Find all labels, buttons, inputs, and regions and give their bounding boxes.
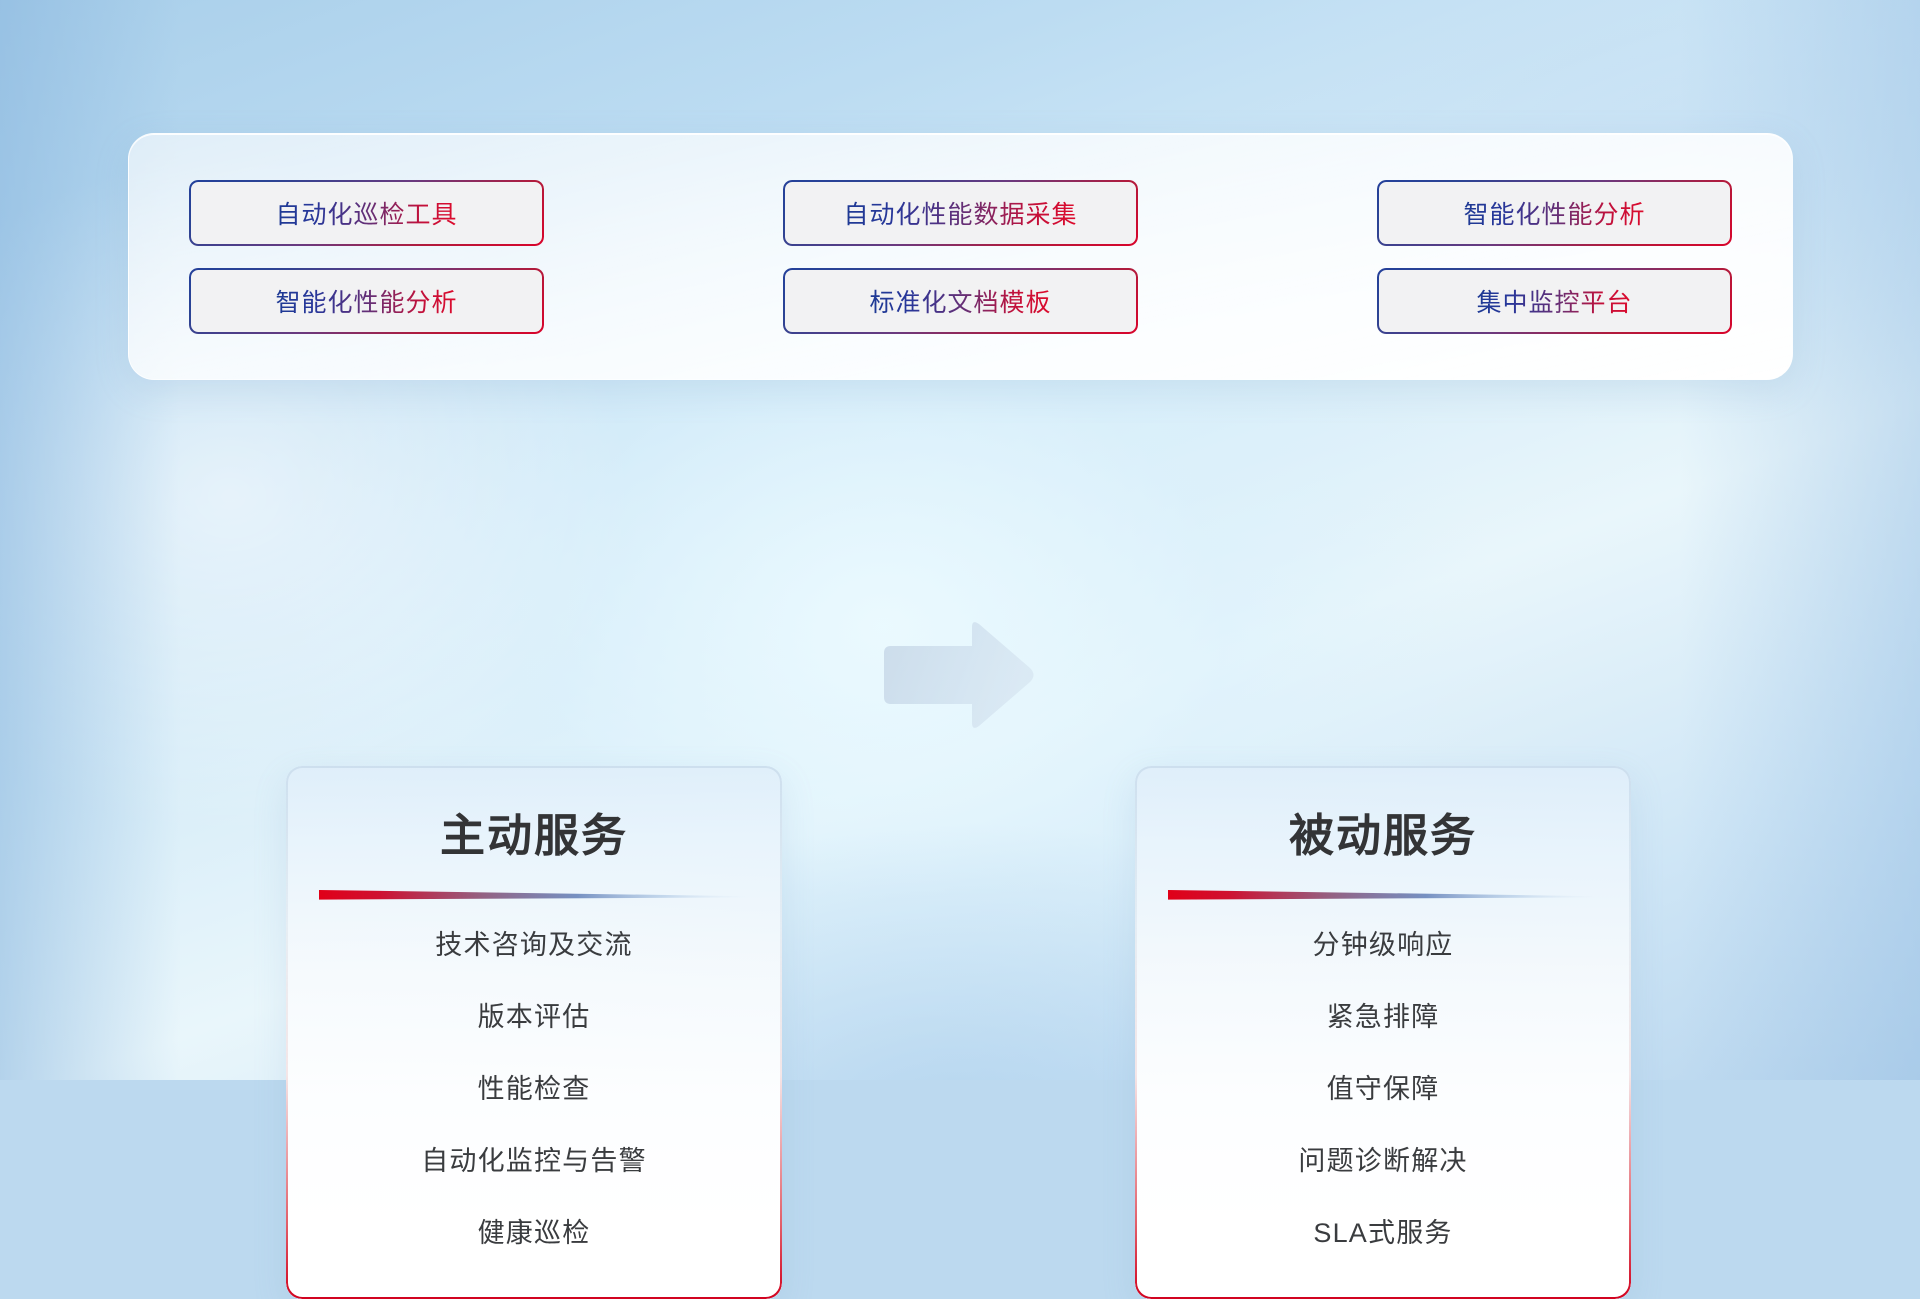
capability-chip-row-1: 自动化巡检工具 自动化性能数据采集 智能化性能分析 xyxy=(189,180,1732,246)
capability-chip-panel: 自动化巡检工具 自动化性能数据采集 智能化性能分析 智能化性能分析 标准化文档模… xyxy=(128,133,1793,380)
capability-chip-intelligent-perf-analysis-2[interactable]: 智能化性能分析 xyxy=(189,268,544,334)
capability-chip-label: 自动化性能数据采集 xyxy=(843,195,1077,231)
capability-chip-auto-inspection-tool[interactable]: 自动化巡检工具 xyxy=(189,180,544,246)
capability-chip-label: 自动化巡检工具 xyxy=(275,195,457,231)
service-card-item: 版本评估 xyxy=(286,1004,782,1031)
service-card-item: 性能检查 xyxy=(286,1076,782,1103)
capability-chip-standard-doc-template[interactable]: 标准化文档模板 xyxy=(783,268,1138,334)
capability-chip-row-2: 智能化性能分析 标准化文档模板 集中监控平台 xyxy=(189,268,1732,334)
capability-chip-label: 智能化性能分析 xyxy=(275,283,457,319)
title-divider-accent xyxy=(319,888,749,902)
service-card-item: SLA式服务 xyxy=(1135,1220,1631,1247)
service-card-item: 自动化监控与告警 xyxy=(286,1148,782,1175)
service-card-passive[interactable]: 被动服务 分钟级响应 紧急排障 值守保障 xyxy=(1135,766,1631,1299)
service-card-item-list: 技术咨询及交流 版本评估 性能检查 自动化监控与告警 健康巡检 xyxy=(286,932,782,1247)
capability-chip-label: 智能化性能分析 xyxy=(1463,195,1645,231)
service-card-item-list: 分钟级响应 紧急排障 值守保障 问题诊断解决 SLA式服务 xyxy=(1135,932,1631,1247)
service-card-item: 问题诊断解决 xyxy=(1135,1148,1631,1175)
capability-chip-intelligent-perf-analysis[interactable]: 智能化性能分析 xyxy=(1377,180,1732,246)
service-card-item: 紧急排障 xyxy=(1135,1004,1631,1031)
service-card-item: 值守保障 xyxy=(1135,1076,1631,1103)
service-card-item: 分钟级响应 xyxy=(1135,932,1631,959)
service-card-title: 主动服务 xyxy=(286,766,782,864)
capability-chip-auto-perf-data-collection[interactable]: 自动化性能数据采集 xyxy=(783,180,1138,246)
title-divider-accent xyxy=(1168,888,1598,902)
service-card-item: 健康巡检 xyxy=(286,1220,782,1247)
capability-chip-centralized-monitoring-platform[interactable]: 集中监控平台 xyxy=(1377,268,1732,334)
service-card-active[interactable]: 主动服务 技术咨询及交流 版本评估 性能检查 xyxy=(286,766,782,1299)
arrow-right-icon xyxy=(878,620,1038,730)
capability-chip-label: 集中监控平台 xyxy=(1476,283,1632,319)
service-card-title: 被动服务 xyxy=(1135,766,1631,864)
diagram-stage: 自动化巡检工具 自动化性能数据采集 智能化性能分析 智能化性能分析 标准化文档模… xyxy=(0,0,1920,1080)
capability-chip-label: 标准化文档模板 xyxy=(869,283,1051,319)
service-card-item: 技术咨询及交流 xyxy=(286,932,782,959)
